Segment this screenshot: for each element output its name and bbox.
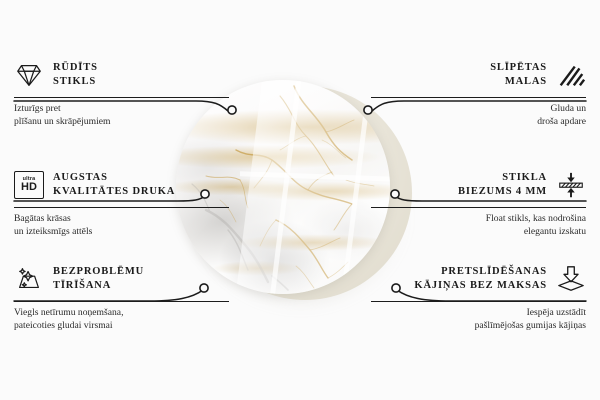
feature-high-quality-print: ultra HD AUGSTAS KVALITĀTES DRUKA Bagāta…	[14, 168, 229, 238]
feature-title: RŪDĪTS STIKLS	[53, 61, 98, 90]
feature-title: BEZPROBLĒMU TĪRĪŠANA	[53, 265, 144, 294]
thickness-arrows-icon	[556, 170, 586, 200]
feature-description: Bagātas krāsas un izteiksmīgs attēls	[14, 213, 229, 238]
feature-description: Iespēja uzstādīt pašlīmējošas gumijas kā…	[371, 307, 586, 332]
feature-divider	[371, 97, 586, 98]
feature-title: SLĪPĒTAS MALAS	[490, 61, 547, 90]
feature-description: Izturīgs pret plīšanu un skrāpējumiem	[14, 103, 229, 128]
feature-polished-edges: SLĪPĒTAS MALAS Gluda un droša apdare	[371, 58, 586, 128]
diagonal-stripes-icon	[556, 60, 586, 90]
feature-description: Float stikls, kas nodrošina elegantu izs…	[371, 213, 586, 238]
feature-divider	[371, 301, 586, 302]
feature-divider	[14, 97, 229, 98]
press-down-pad-icon	[556, 264, 586, 294]
feature-description: Gluda un droša apdare	[371, 103, 586, 128]
feature-divider	[14, 301, 229, 302]
sparkle-clean-icon	[14, 264, 44, 294]
feature-anti-slip-feet: PRETSLĪDĒŠANAS KĀJIŅAS BEZ MAKSAS Iespēj…	[371, 262, 586, 332]
diamond-icon	[14, 60, 44, 90]
feature-description: Viegls netīrumu noņemšana, pateicoties g…	[14, 307, 229, 332]
ultra-hd-badge-icon: ultra HD	[14, 171, 44, 199]
ultra-hd-badge-main-text: HD	[21, 182, 37, 193]
feature-title: AUGSTAS KVALITĀTES DRUKA	[53, 171, 175, 200]
feature-title: STIKLA BIEZUMS 4 MM	[458, 171, 547, 200]
feature-glass-thickness: STIKLA BIEZUMS 4 MM Float stikls, kas no…	[371, 168, 586, 238]
feature-easy-cleaning: BEZPROBLĒMU TĪRĪŠANA Viegls netīrumu noņ…	[14, 262, 229, 332]
feature-tempered-glass: RŪDĪTS STIKLS Izturīgs pret plīšanu un s…	[14, 58, 229, 128]
feature-divider	[371, 207, 586, 208]
feature-divider	[14, 207, 229, 208]
feature-title: PRETSLĪDĒŠANAS KĀJIŅAS BEZ MAKSAS	[414, 265, 547, 294]
infographic-canvas: RŪDĪTS STIKLS Izturīgs pret plīšanu un s…	[0, 0, 600, 400]
